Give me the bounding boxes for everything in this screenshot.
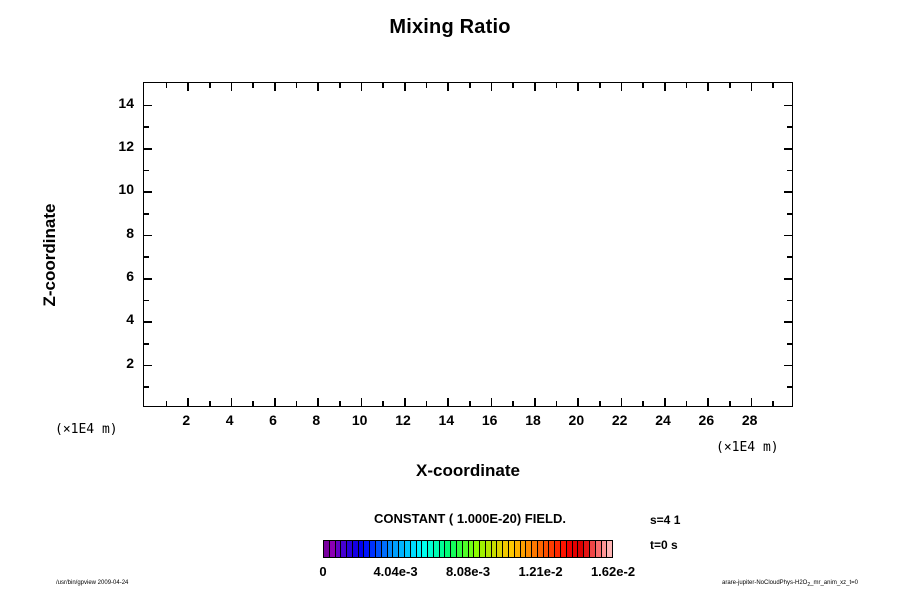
axis-tick — [729, 401, 731, 406]
axis-tick — [144, 213, 149, 215]
axis-tick — [144, 278, 152, 280]
y-tick-label: 14 — [94, 95, 134, 111]
axis-tick — [144, 365, 152, 367]
axis-tick — [751, 83, 753, 91]
axis-tick — [274, 83, 276, 91]
axis-tick — [556, 83, 558, 88]
axis-tick — [686, 401, 688, 406]
axis-tick — [144, 300, 149, 302]
plot-area — [143, 82, 793, 407]
axis-tick — [252, 83, 254, 88]
axis-tick — [426, 83, 428, 88]
axis-tick — [166, 83, 168, 88]
x-tick-label: 24 — [643, 412, 683, 428]
footer-dataset: arare-jupiter-NoCloudPhys-H2O2_mr_anim_x… — [722, 580, 858, 588]
colorbar-tick-label: 4.04e-3 — [361, 564, 431, 579]
axis-tick — [787, 126, 792, 128]
annotation-time: t=0 s — [650, 538, 678, 552]
footer-dataset-prefix: arare-jupiter-NoCloudPhys-H2O — [722, 580, 807, 586]
axis-tick — [642, 83, 644, 88]
axis-tick — [512, 83, 514, 88]
axis-tick — [534, 83, 536, 91]
axis-tick — [784, 278, 792, 280]
axis-tick — [784, 321, 792, 323]
axis-tick — [491, 398, 493, 406]
colorbar-caption: CONSTANT ( 1.000E-20) FIELD. — [250, 511, 690, 526]
y-tick-label: 4 — [94, 311, 134, 327]
axis-tick — [339, 401, 341, 406]
colorbar-band — [607, 541, 612, 557]
axis-tick — [317, 398, 319, 406]
axis-tick — [231, 83, 233, 91]
colorbar-tick-label: 0 — [288, 564, 358, 579]
axis-tick — [577, 83, 579, 91]
axis-tick — [144, 170, 149, 172]
axis-tick — [144, 321, 152, 323]
axis-tick — [209, 401, 211, 406]
axis-tick — [751, 398, 753, 406]
axis-tick — [339, 83, 341, 88]
axis-tick — [599, 83, 601, 88]
axis-tick — [361, 83, 363, 91]
page-title: Mixing Ratio — [0, 16, 900, 39]
colorbar — [323, 540, 613, 558]
y-tick-label: 6 — [94, 268, 134, 284]
axis-tick — [787, 256, 792, 258]
x-tick-label: 22 — [600, 412, 640, 428]
x-tick-label: 10 — [340, 412, 380, 428]
x-tick-label: 28 — [730, 412, 770, 428]
x-axis-unit: (×1E4 m) — [716, 440, 779, 455]
axis-tick — [144, 191, 152, 193]
axis-tick — [491, 83, 493, 91]
axis-tick — [144, 148, 152, 150]
y-tick-label: 2 — [94, 355, 134, 371]
axis-tick — [784, 235, 792, 237]
axis-tick — [144, 235, 152, 237]
axis-tick — [469, 83, 471, 88]
axis-tick — [772, 401, 774, 406]
y-tick-label: 10 — [94, 181, 134, 197]
x-tick-label: 4 — [210, 412, 250, 428]
axis-tick — [144, 256, 149, 258]
axis-tick — [166, 401, 168, 406]
x-tick-label: 12 — [383, 412, 423, 428]
axis-tick — [274, 398, 276, 406]
y-tick-label: 12 — [94, 138, 134, 154]
axis-tick — [664, 398, 666, 406]
axis-tick — [787, 170, 792, 172]
axis-tick — [144, 343, 149, 345]
x-tick-label: 14 — [426, 412, 466, 428]
axis-tick — [664, 83, 666, 91]
axis-tick — [787, 343, 792, 345]
footer-command: /usr/bin/gpview 2009-04-24 — [56, 580, 128, 586]
axis-tick — [642, 401, 644, 406]
x-tick-label: 2 — [166, 412, 206, 428]
colorbar-tick-label: 8.08e-3 — [433, 564, 503, 579]
axis-tick — [296, 83, 298, 88]
axis-tick — [447, 398, 449, 406]
y-axis-unit: (×1E4 m) — [55, 422, 118, 437]
axis-tick — [686, 83, 688, 88]
axis-tick — [144, 105, 152, 107]
axis-tick — [707, 398, 709, 406]
axis-tick — [382, 83, 384, 88]
x-tick-label: 18 — [513, 412, 553, 428]
axis-tick — [534, 398, 536, 406]
footer-dataset-suffix: _mr_anim_xz_t=0 — [810, 580, 858, 586]
axis-tick — [296, 401, 298, 406]
axis-tick — [404, 398, 406, 406]
x-tick-label: 8 — [296, 412, 336, 428]
axis-tick — [772, 83, 774, 88]
axis-tick — [787, 386, 792, 388]
axis-tick — [599, 401, 601, 406]
x-axis-label: X-coordinate — [143, 461, 793, 481]
x-tick-label: 6 — [253, 412, 293, 428]
x-tick-label: 16 — [470, 412, 510, 428]
axis-tick — [556, 401, 558, 406]
axis-tick — [621, 398, 623, 406]
axis-tick — [404, 83, 406, 91]
annotation-sigma-level: s=4 1 — [650, 513, 680, 527]
axis-tick — [784, 365, 792, 367]
colorbar-tick-label: 1.21e-2 — [506, 564, 576, 579]
axis-tick — [469, 401, 471, 406]
axis-tick — [621, 83, 623, 91]
axis-tick — [361, 398, 363, 406]
axis-tick — [187, 398, 189, 406]
x-tick-label: 20 — [556, 412, 596, 428]
axis-tick — [784, 191, 792, 193]
axis-tick — [144, 126, 149, 128]
axis-tick — [252, 401, 254, 406]
axis-tick — [447, 83, 449, 91]
y-axis-label: Z-coordinate — [40, 145, 60, 365]
axis-tick — [577, 398, 579, 406]
axis-tick — [787, 300, 792, 302]
axis-tick — [187, 83, 189, 91]
axis-tick — [729, 83, 731, 88]
y-tick-label: 8 — [94, 225, 134, 241]
axis-tick — [784, 105, 792, 107]
axis-tick — [144, 386, 149, 388]
axis-tick — [787, 213, 792, 215]
axis-tick — [707, 83, 709, 91]
axis-tick — [382, 401, 384, 406]
axis-tick — [426, 401, 428, 406]
axis-tick — [784, 148, 792, 150]
axis-tick — [209, 83, 211, 88]
x-tick-label: 26 — [686, 412, 726, 428]
axis-tick — [317, 83, 319, 91]
colorbar-tick-label: 1.62e-2 — [578, 564, 648, 579]
axis-tick — [512, 401, 514, 406]
axis-tick — [231, 398, 233, 406]
